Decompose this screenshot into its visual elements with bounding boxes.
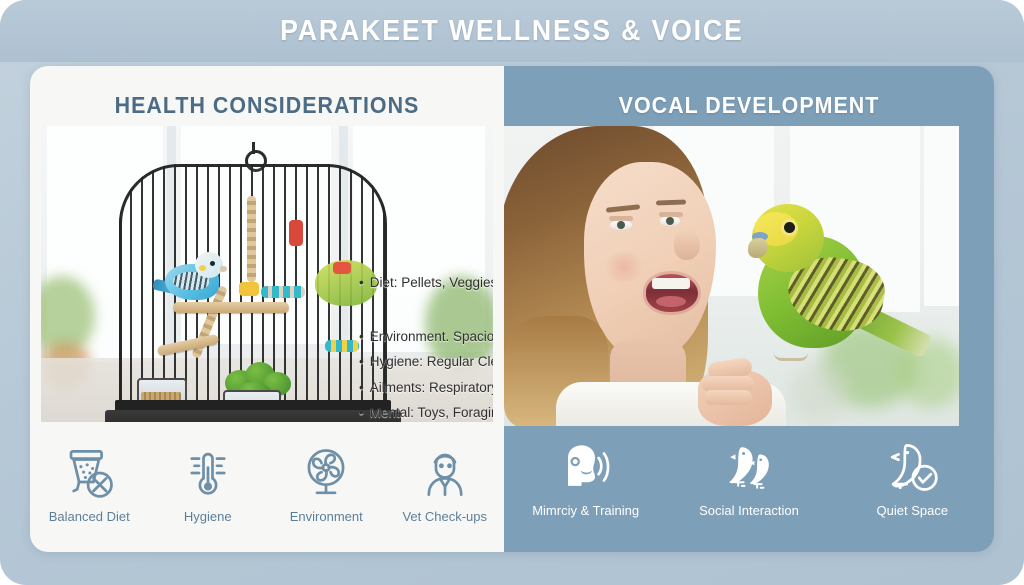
list-item: Environment. Spacious, Clean [359, 330, 493, 344]
page-title: PARAKEET WELLNESS & VOICE [280, 15, 744, 48]
icon-item-quiet-space[interactable]: Quiet Space [853, 440, 971, 519]
icon-item-balanced-diet[interactable]: Balanced Diet [30, 446, 148, 525]
icon-item-hygiene[interactable]: Hygiene [149, 446, 267, 525]
list-item: Ailments: Respiratory, Mites [359, 381, 493, 395]
woman-and-budgie-photo: Natural: Chirps, Warbles Mimciny: Words,… [504, 126, 959, 426]
vocal-icon-row: Mimrciy & Training [504, 426, 994, 552]
speaking-head-icon [557, 440, 615, 494]
icon-label: Balanced Diet [49, 510, 130, 525]
list-item: Hygiene: Regular Cleaning [359, 355, 493, 369]
infographic-poster: PARAKEET WELLNESS & VOICE HEALTH CONSIDE… [0, 0, 1024, 585]
health-panel-title: HEALTH CONSIDERATIONS [47, 92, 488, 119]
icon-item-vet-checkups[interactable]: Vet Check-ups [386, 446, 504, 525]
health-icon-row: Balanced Diet [30, 430, 504, 552]
health-bullet-list: Diet: Pellets, Veggies, Fruit Environmen… [359, 276, 493, 422]
fan-icon [297, 446, 355, 500]
list-item: Mental: Toys, Foraging [359, 406, 493, 420]
list-item: Diet: Pellets, Veggies, Fruit [359, 276, 493, 290]
health-panel: HEALTH CONSIDERATIONS [30, 66, 504, 552]
icon-item-environment[interactable]: Environment [267, 446, 385, 525]
vocal-panel: VOCAL DEVELOPMENT [504, 66, 994, 552]
birdcage-photo: Diet: Pellets, Veggies, Fruit Environmen… [41, 126, 493, 422]
icon-label: Mimrciy & Training [532, 504, 639, 519]
icon-label: Quiet Space [877, 504, 949, 519]
header-band: PARAKEET WELLNESS & VOICE [0, 0, 1024, 62]
icon-label: Hygiene [184, 510, 232, 525]
icon-item-mimicry-training[interactable]: Mimrciy & Training [527, 440, 645, 519]
panels-container: HEALTH CONSIDERATIONS [30, 66, 994, 552]
vet-person-icon [416, 446, 474, 500]
green-budgie [744, 196, 928, 408]
icon-label: Vet Check-ups [402, 510, 487, 525]
icon-label: Social Interaction [699, 504, 799, 519]
scene-background [504, 126, 959, 426]
bird-cage [119, 164, 387, 414]
icon-label: Environment [290, 510, 363, 525]
bird-check-icon [883, 440, 941, 494]
food-bowl-x-icon [60, 446, 118, 500]
two-birds-icon [720, 440, 778, 494]
thermometer-icon [179, 446, 237, 500]
icon-item-social-interaction[interactable]: Social Interaction [690, 440, 808, 519]
blue-budgie [155, 252, 229, 308]
vocal-panel-title: VOCAL DEVELOPMENT [521, 92, 977, 119]
